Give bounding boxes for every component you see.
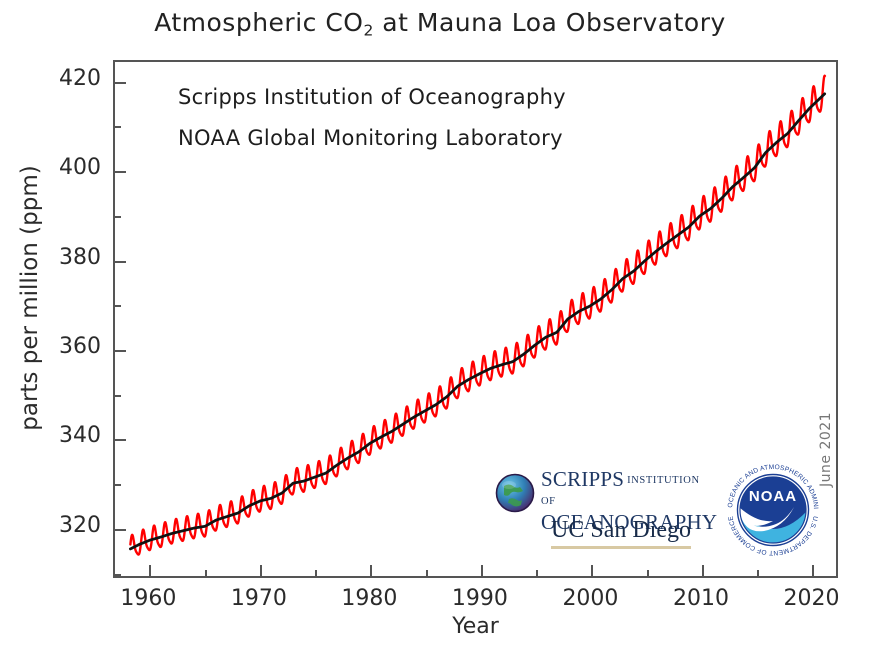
x-tick-minor xyxy=(205,570,207,576)
x-tick-minor xyxy=(647,570,649,576)
x-tick-label: 1970 xyxy=(199,586,319,611)
y-tick-label: 360 xyxy=(1,334,101,359)
x-tick-minor xyxy=(426,570,428,576)
y-tick-minor xyxy=(115,574,121,576)
annotation-noaa: NOAA Global Monitoring Laboratory xyxy=(178,126,563,150)
x-tick-major xyxy=(149,565,151,576)
y-tick-label: 320 xyxy=(1,513,101,538)
y-tick-major xyxy=(115,529,126,531)
x-tick-major xyxy=(370,565,372,576)
y-tick-label: 380 xyxy=(1,245,101,270)
annotation-scripps: Scripps Institution of Oceanography xyxy=(178,85,566,109)
noaa-seal-logo: NATIONAL OCEANIC AND ATMOSPHERIC ADMINIS… xyxy=(723,460,823,560)
x-axis-title: Year xyxy=(113,614,838,639)
x-tick-label: 1980 xyxy=(309,586,429,611)
x-tick-minor xyxy=(757,570,759,576)
globe-icon xyxy=(495,473,535,513)
page-title: Atmospheric CO2 at Mauna Loa Observatory xyxy=(0,8,880,39)
x-tick-minor xyxy=(315,570,317,576)
y-tick-label: 420 xyxy=(1,66,101,91)
x-tick-major xyxy=(812,565,814,576)
y-tick-minor xyxy=(115,395,121,397)
x-tick-label: 2000 xyxy=(530,586,650,611)
y-tick-label: 340 xyxy=(1,423,101,448)
trend-co2-curve xyxy=(130,94,824,549)
x-tick-label: 2010 xyxy=(641,586,761,611)
y-tick-major xyxy=(115,439,126,441)
x-tick-label: 2020 xyxy=(751,586,871,611)
y-tick-minor xyxy=(115,305,121,307)
title-text-tail: at Mauna Loa Observatory xyxy=(374,8,726,37)
x-tick-label: 1960 xyxy=(88,586,208,611)
y-tick-label: 400 xyxy=(1,155,101,180)
date-stamp: June 2021 xyxy=(818,367,834,487)
scripps-name: SCRIPPS xyxy=(541,467,624,491)
y-tick-minor xyxy=(115,216,121,218)
y-tick-major xyxy=(115,261,126,263)
title-subscript: 2 xyxy=(363,21,373,39)
ucsd-wordmark: UC San Diego xyxy=(551,517,691,549)
y-tick-major xyxy=(115,171,126,173)
y-tick-major xyxy=(115,350,126,352)
scripps-line1: SCRIPPSINSTITUTION OF xyxy=(541,469,717,511)
x-tick-major xyxy=(481,565,483,576)
x-tick-major xyxy=(591,565,593,576)
plot-area: Scripps Institution of Oceanography NOAA… xyxy=(113,60,838,578)
scripps-logo: SCRIPPSINSTITUTION OF OCEANOGRAPHY UC Sa… xyxy=(495,467,710,563)
x-tick-major xyxy=(702,565,704,576)
x-tick-label: 1990 xyxy=(420,586,540,611)
x-tick-major xyxy=(260,565,262,576)
y-tick-major xyxy=(115,82,126,84)
y-axis-title: parts per million (ppm) xyxy=(17,68,43,528)
y-tick-minor xyxy=(115,484,121,486)
co2-chart-figure: Atmospheric CO2 at Mauna Loa Observatory… xyxy=(0,0,880,652)
x-tick-minor xyxy=(536,570,538,576)
y-tick-minor xyxy=(115,126,121,128)
title-text-main: Atmospheric CO xyxy=(154,8,363,37)
noaa-acronym: NOAA xyxy=(749,488,797,505)
